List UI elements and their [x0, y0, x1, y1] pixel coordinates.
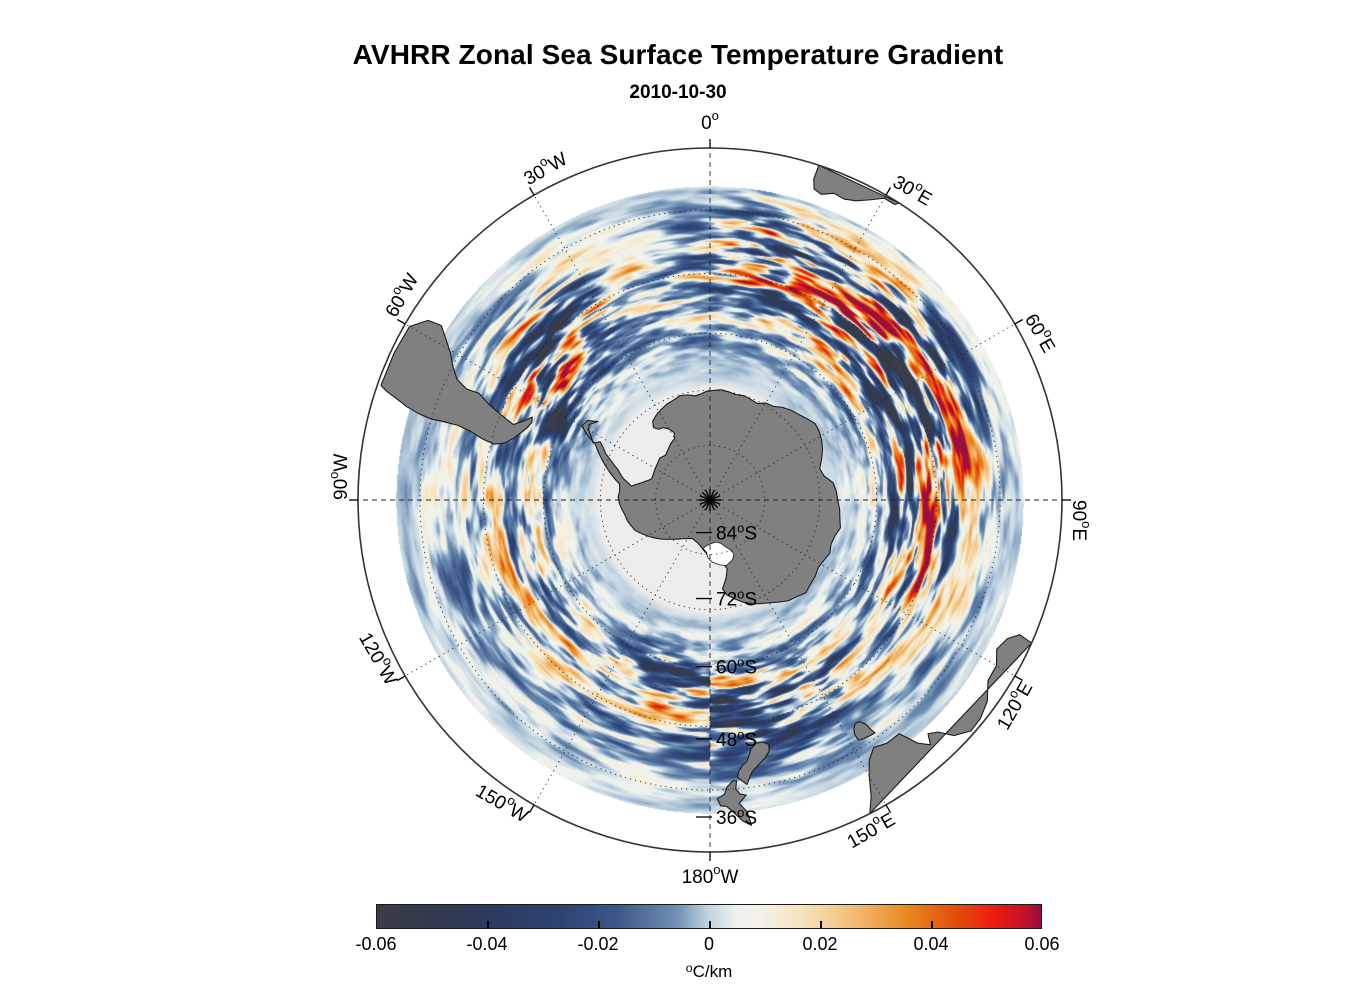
latitude-label: 72oS — [716, 587, 757, 611]
longitude-label: 180oW — [682, 862, 739, 888]
colorbar-tick-label: 0.02 — [802, 934, 837, 955]
colorbar-tick-label: -0.06 — [355, 934, 396, 955]
colorbar-tick-label: 0.04 — [913, 934, 948, 955]
map-svg[interactable]: 84oS72oS60oS48oS36oS0o30oE60oE90oE120oE1… — [0, 110, 1356, 890]
latitude-label: 36oS — [716, 805, 757, 829]
colorbar-tick-label: -0.04 — [466, 934, 507, 955]
colorbar[interactable]: -0.06-0.04-0.0200.020.040.06 oC/km — [376, 904, 1042, 982]
colorbar-tick-labels: -0.06-0.04-0.0200.020.040.06 — [376, 934, 1042, 958]
longitude-label: 0o — [701, 110, 719, 134]
colorbar-unit-label: oC/km — [376, 961, 1042, 982]
latitude-label: 60oS — [716, 655, 757, 679]
pole-marker — [699, 489, 721, 511]
colorbar-tick — [598, 921, 600, 928]
title-block: AVHRR Zonal Sea Surface Temperature Grad… — [0, 38, 1356, 106]
colorbar-tick — [820, 921, 822, 928]
colorbar-tick-label: 0.06 — [1024, 934, 1059, 955]
colorbar-tick — [709, 921, 711, 928]
latitude-label: 48oS — [716, 727, 757, 751]
colorbar-tick — [487, 921, 489, 928]
latitude-label: 84oS — [716, 521, 757, 545]
page-title: AVHRR Zonal Sea Surface Temperature Grad… — [0, 38, 1356, 72]
longitude-label: 90oE — [1068, 500, 1094, 541]
longitude-label: 90oW — [326, 454, 352, 500]
colorbar-tick-label: -0.02 — [577, 934, 618, 955]
polar-map[interactable]: 84oS72oS60oS48oS36oS0o30oE60oE90oE120oE1… — [0, 110, 1356, 890]
page-subtitle: 2010-10-30 — [0, 80, 1356, 106]
colorbar-tick — [931, 921, 933, 928]
colorbar-gradient[interactable] — [376, 904, 1042, 929]
colorbar-tick-label: 0 — [704, 934, 714, 955]
